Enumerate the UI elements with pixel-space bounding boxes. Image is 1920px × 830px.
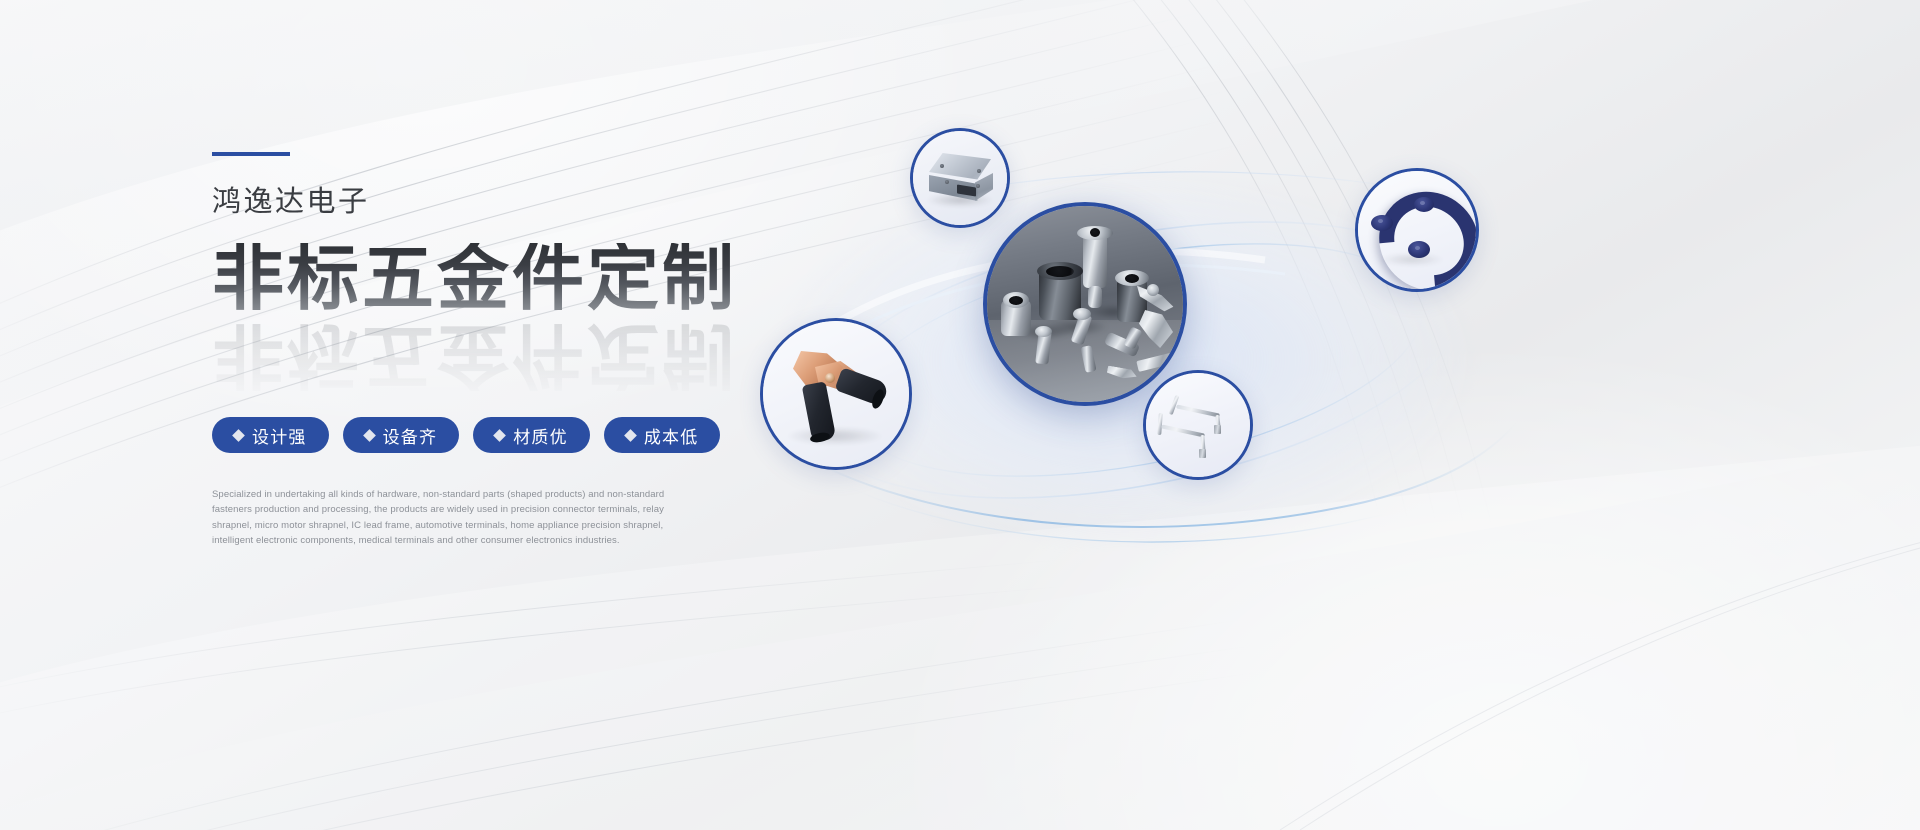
feature-pill-material[interactable]: 材质优 <box>473 417 590 453</box>
product-orbit-visual <box>745 110 1525 580</box>
part-pin-head <box>1073 308 1091 320</box>
diamond-icon <box>232 429 245 442</box>
snap-ring-hole <box>1420 201 1425 205</box>
description-paragraph: Specialized in undertaking all kinds of … <box>212 487 674 549</box>
page-title: 非标五金件定制 <box>212 243 832 315</box>
part-bore <box>1046 266 1074 277</box>
terminal-pin-arm <box>1161 424 1205 437</box>
part-stepped-cylinder <box>1083 232 1107 288</box>
diamond-icon <box>493 429 506 442</box>
node-snap-ring[interactable] <box>1355 168 1479 292</box>
headline-wrapper: 非标五金件定制 非标五金件定制 <box>212 243 832 371</box>
snap-ring-hole <box>1378 219 1383 223</box>
feature-pill-label: 设备齐 <box>383 423 438 448</box>
part-barrel-rim <box>1035 326 1052 337</box>
diamond-icon <box>624 429 637 442</box>
feature-pill-design[interactable]: 设计强 <box>212 417 329 453</box>
accent-bar <box>212 152 290 156</box>
snap-ring-shadow <box>1380 253 1444 266</box>
hero-text-block: 鸿逸达电子 非标五金件定制 非标五金件定制 设计强 设备齐 材质优 成本低 <box>212 152 832 558</box>
part-bore <box>1090 228 1100 237</box>
housing-screw <box>976 184 980 188</box>
feature-pill-row: 设计强 设备齐 材质优 成本低 <box>212 417 832 453</box>
part-bore <box>1125 274 1139 283</box>
snap-ring-hole <box>1415 246 1420 250</box>
housing-screw <box>977 169 981 173</box>
terminal-pin-arm <box>1176 404 1220 417</box>
node-metal-housing[interactable] <box>910 128 1010 228</box>
housing-screw <box>945 180 949 184</box>
diamond-icon <box>363 429 376 442</box>
feature-pill-label: 设计强 <box>252 423 307 448</box>
feature-pill-equipment[interactable]: 设备齐 <box>343 417 460 453</box>
node-terminal-pins[interactable] <box>1143 370 1253 480</box>
feature-pill-cost[interactable]: 成本低 <box>604 417 721 453</box>
snap-ring-lug <box>1371 215 1393 231</box>
feature-pill-label: 成本低 <box>644 423 699 448</box>
snap-ring-body <box>1359 171 1479 292</box>
brand-name: 鸿逸达电子 <box>212 188 832 217</box>
terminal-pin-tip <box>1214 425 1221 434</box>
hero-banner: 鸿逸达电子 非标五金件定制 非标五金件定制 设计强 设备齐 材质优 成本低 <box>0 0 1920 830</box>
part-shank <box>1088 286 1102 308</box>
headline-reflection: 非标五金件定制 <box>212 319 737 391</box>
terminal-pin-tip <box>1199 449 1206 458</box>
feature-pill-label: 材质优 <box>513 423 568 448</box>
part-ball-stud <box>1147 284 1159 296</box>
housing-screw <box>940 164 944 168</box>
part-bore <box>1009 296 1023 305</box>
